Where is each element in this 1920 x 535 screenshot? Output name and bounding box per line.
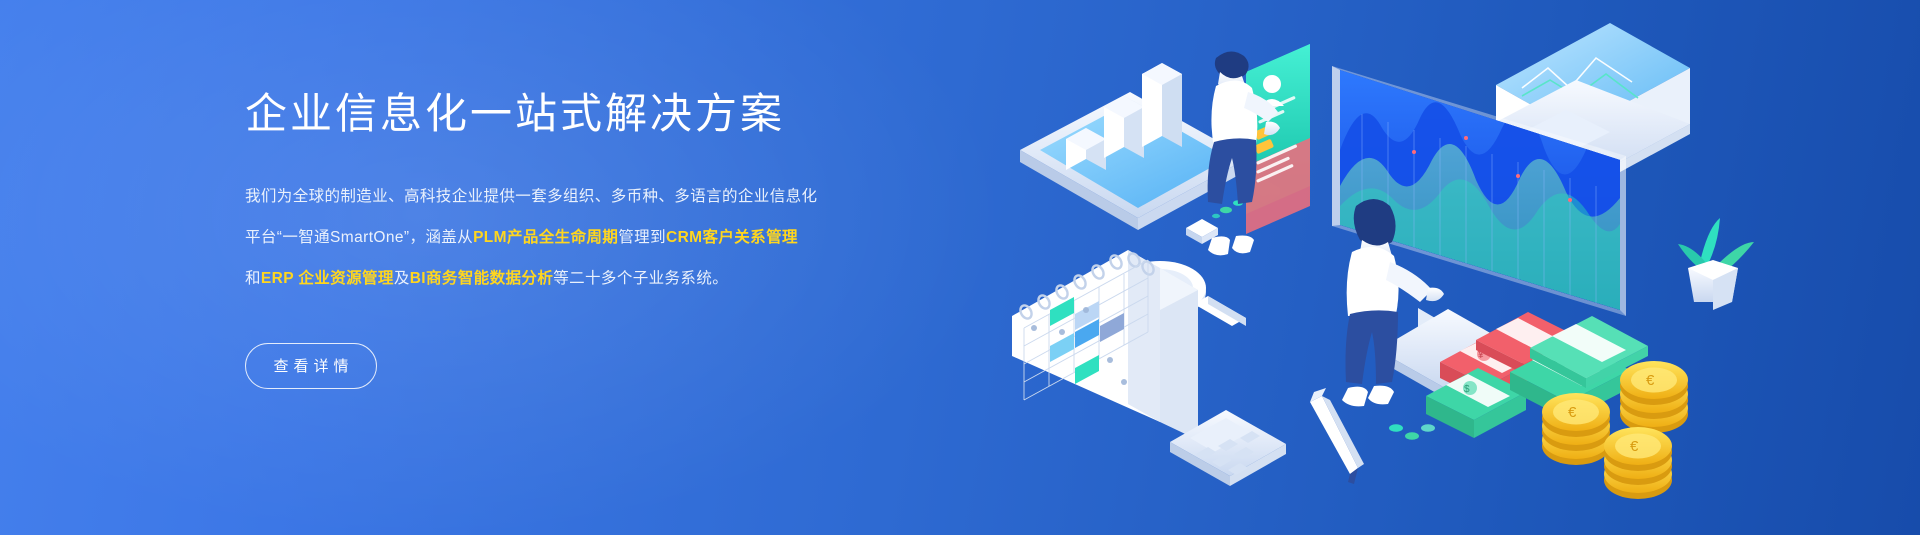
highlight-bi: BI商务智能数据分析 [410, 270, 554, 287]
page-title: 企业信息化一站式解决方案 [245, 88, 885, 140]
hero-paragraph: 我们为全球的制造业、高科技企业提供一套多组织、多币种、多语言的企业信息化 平台“… [245, 182, 885, 293]
hero-illustration: ¥ $ [1010, 10, 1770, 530]
potted-plant [1678, 218, 1754, 310]
svg-text:€: € [1646, 372, 1655, 389]
desk-calendar [1012, 246, 1198, 440]
highlight-crm: CRM客户关系管理 [666, 229, 798, 246]
svg-text:€: € [1568, 404, 1577, 421]
text-run: 我们为全球的制造业、高科技企业提供一套多组织、多币种、多语言的企业信息化 [245, 188, 817, 205]
text-run: 平台“一智通SmartOne”，涵盖从 [245, 229, 473, 246]
highlight-plm: PLM产品全生命周期 [473, 229, 618, 246]
text-run: 和 [245, 270, 261, 287]
text-run: 等二十多个子业务系统。 [553, 270, 728, 287]
paragraph-line-3: 和ERP 企业资源管理及BI商务智能数据分析等二十多个子业务系统。 [245, 264, 885, 293]
svg-text:€: € [1630, 438, 1639, 455]
text-run: 及 [394, 270, 410, 287]
hero-copy: 企业信息化一站式解决方案 我们为全球的制造业、高科技企业提供一套多组织、多币种、… [245, 88, 885, 389]
paragraph-line-2: 平台“一智通SmartOne”，涵盖从PLM产品全生命周期管理到CRM客户关系管… [245, 223, 885, 252]
view-details-button[interactable]: 查看详情 [245, 343, 377, 389]
svg-text:$: $ [1464, 384, 1470, 395]
hero-banner: 企业信息化一站式解决方案 我们为全球的制造业、高科技企业提供一套多组织、多币种、… [0, 0, 1920, 535]
paragraph-line-1: 我们为全球的制造业、高科技企业提供一套多组织、多币种、多语言的企业信息化 [245, 182, 885, 211]
text-run: 管理到 [618, 229, 666, 246]
highlight-erp: ERP 企业资源管理 [261, 270, 394, 287]
